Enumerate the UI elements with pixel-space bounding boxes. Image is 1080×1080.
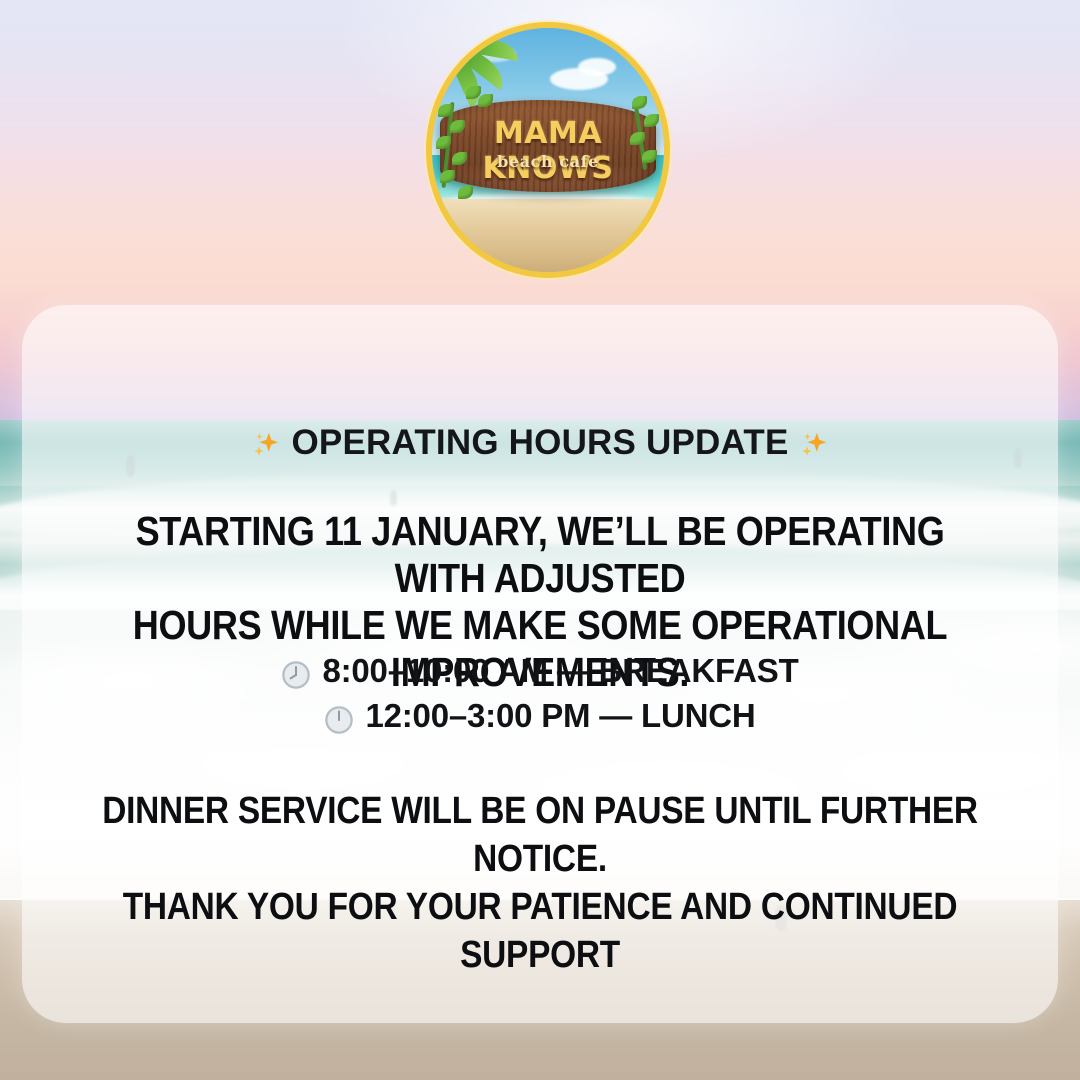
service-hours-text: 8:00–10:00 AM — BREAKFAST	[322, 648, 798, 693]
list-item: 8:00–10:00 AM — BREAKFAST	[22, 648, 1058, 693]
brand-logo: MAMA KNOWS beach cafe	[432, 28, 664, 272]
page-title: OPERATING HOURS UPDATE	[22, 423, 1058, 464]
sparkles-icon	[251, 426, 281, 463]
page-title-text: OPERATING HOURS UPDATE	[291, 423, 788, 462]
sparkles-icon	[799, 426, 829, 463]
announcement-body-line: STARTING 11 JANUARY, WE’LL BE OPERATING …	[91, 508, 989, 602]
announcement-footer: DINNER SERVICE WILL BE ON PAUSE UNTIL FU…	[91, 787, 989, 979]
logo-beach-sand	[432, 199, 664, 272]
announcement-footer-line: THANK YOU FOR YOUR PATIENCE AND CONTINUE…	[91, 883, 989, 979]
list-item: 12:00–3:00 PM — LUNCH	[22, 693, 1058, 738]
announcement-footer-line: DINNER SERVICE WILL BE ON PAUSE UNTIL FU…	[91, 787, 989, 883]
announcement-content: OPERATING HOURS UPDATE STARTING 11 JANUA…	[22, 305, 1058, 1023]
announcement-poster: MAMA KNOWS beach cafe OPERATING HOURS UP…	[0, 0, 1080, 1080]
clock-twelve-icon	[324, 701, 354, 731]
clock-eight-icon	[281, 656, 311, 686]
wooden-sign: MAMA KNOWS beach cafe	[440, 100, 656, 192]
logo-cloud	[578, 58, 616, 76]
service-hours-text: 12:00–3:00 PM — LUNCH	[365, 693, 755, 738]
logo-subtitle: beach cafe	[440, 152, 656, 171]
service-hours-list: 8:00–10:00 AM — BREAKFAST 12:00–3:00 PM …	[22, 648, 1058, 738]
logo-title: MAMA KNOWS	[440, 116, 656, 186]
